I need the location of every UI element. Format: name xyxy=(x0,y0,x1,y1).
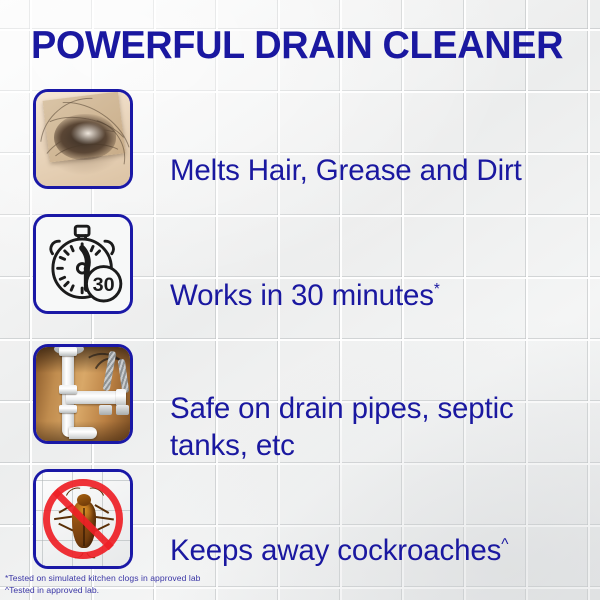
pipe-collar xyxy=(59,347,77,356)
feature-row: Melts Hair, Grease and Dirt xyxy=(33,89,573,189)
feature-label-text: Keeps away cockroaches xyxy=(170,534,501,567)
feature-row: Safe on drain pipes, septic tanks, etc xyxy=(33,344,573,464)
tile-wall-background xyxy=(36,472,130,566)
feature-row: 30 Works in 30 minutes* xyxy=(33,214,573,314)
footnote-marker: * xyxy=(434,281,440,298)
feature-label: Safe on drain pipes, septic tanks, etc xyxy=(170,344,514,464)
stopwatch-icon-canvas: 30 xyxy=(36,217,130,311)
feature-row: Keeps away cockroaches^ xyxy=(33,469,573,569)
feature-label-text: Works in 30 minutes xyxy=(170,279,434,312)
feature-label-text: Safe on drain pipes, septic tanks, etc xyxy=(170,392,514,462)
stopwatch-badge-value: 30 xyxy=(93,274,115,296)
pipe-collar xyxy=(116,389,126,406)
hair-clog-photo-icon xyxy=(33,89,133,189)
sink-cabinet-background xyxy=(36,347,130,441)
footnote-line: ^Tested in approved lab. xyxy=(5,585,201,597)
shutoff-valve xyxy=(99,405,112,415)
no-cockroach-photo-icon xyxy=(33,469,133,569)
clog-photo-background xyxy=(36,92,130,186)
footnote-line: *Tested on simulated kitchen clogs in ap… xyxy=(5,573,201,585)
footnotes: *Tested on simulated kitchen clogs in ap… xyxy=(5,573,201,596)
stopwatch-30-icon: 30 xyxy=(33,214,133,314)
feature-label: Works in 30 minutes* xyxy=(170,214,440,314)
feature-label-text: Melts Hair, Grease and Dirt xyxy=(170,154,522,187)
shutoff-valve xyxy=(116,405,129,415)
feature-label: Keeps away cockroaches^ xyxy=(170,469,508,569)
pipe-collar xyxy=(59,405,77,413)
feature-label: Melts Hair, Grease and Dirt xyxy=(170,89,522,189)
p-trap-elbow xyxy=(69,427,97,439)
feature-list: Melts Hair, Grease and Dirt xyxy=(0,0,600,600)
footnote-marker: ^ xyxy=(501,536,508,553)
under-sink-pipes-photo-icon xyxy=(33,344,133,444)
stopwatch-svg: 30 xyxy=(40,221,126,307)
product-infographic: POWERFUL DRAIN CLEANER Melts Hair, Greas… xyxy=(0,0,600,600)
prohibition-icon xyxy=(43,479,123,559)
pipe-collar xyxy=(59,385,77,394)
